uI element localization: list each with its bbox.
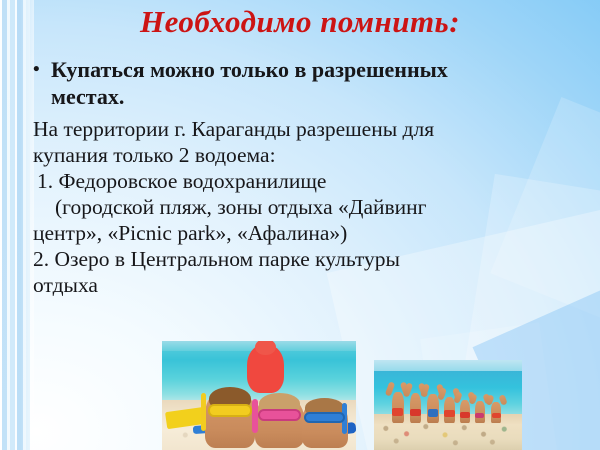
- photo-children-snorkeling: [162, 341, 356, 450]
- photo2-child-7-swimsuit: [492, 413, 501, 418]
- photo1-child-middle-snorkel: [252, 399, 257, 434]
- bullet-item: • Купаться можно только в разрешенных ме…: [33, 56, 573, 110]
- photo2-child-5-swimsuit: [460, 412, 469, 418]
- photo1-inflatable-float: [247, 345, 284, 393]
- list-item-1-line-3: центр», «Picnic park», «Афалина»): [33, 220, 573, 246]
- intro-line-1: На территории г. Караганды разрешены для: [33, 116, 573, 142]
- bullet-line-1: Купаться можно только в разрешенных: [51, 57, 448, 82]
- photo1-child-right-mask: [304, 412, 345, 423]
- photo1-child-left-mask: [208, 404, 252, 417]
- photo2-child-1: [392, 392, 404, 423]
- list-item-1-line-1: 1. Федоровское водохранилище: [37, 168, 573, 194]
- photo2-child-3: [427, 394, 439, 423]
- photo2-child-6: [475, 401, 485, 423]
- photo2-child-7: [491, 402, 501, 423]
- bullet-item-text: Купаться можно только в разрешенных мест…: [51, 56, 573, 110]
- photo-children-raising-hands: [374, 360, 522, 450]
- photo2-child-4-swimsuit: [444, 410, 454, 417]
- photo2-child-2: [410, 393, 422, 423]
- intro-paragraph: На территории г. Караганды разрешены для…: [33, 116, 573, 168]
- photo2-child-3-swimsuit: [428, 409, 438, 416]
- slide-title: Необходимо помнить:: [30, 4, 570, 40]
- photo1-child-middle-mask: [258, 409, 301, 421]
- photo2-child-5: [460, 400, 470, 423]
- list-item-1: 1. Федоровское водохранилище (городской …: [33, 168, 573, 246]
- photo1-child-right: [302, 400, 349, 448]
- bullet-line-2: местах.: [51, 84, 124, 109]
- photo2-child-2-swimsuit: [410, 409, 420, 417]
- list-item-2-line-1: 2. Озеро в Центральном парке культуры: [33, 246, 573, 272]
- photo1-child-middle: [255, 396, 304, 448]
- bullet-dot-icon: •: [33, 56, 51, 83]
- list-item-2-line-2: отдыха: [33, 272, 573, 298]
- photo1-child-left: [205, 389, 255, 448]
- slide-body: • Купаться можно только в разрешенных ме…: [33, 56, 573, 298]
- presentation-slide: Необходимо помнить: • Купаться можно тол…: [0, 0, 600, 450]
- photo2-child-1-swimsuit: [392, 408, 402, 416]
- left-stripe-fade: [0, 0, 34, 450]
- intro-line-2: купания только 2 водоема:: [33, 142, 573, 168]
- photo2-child-6-swimsuit: [475, 413, 484, 419]
- list-item-2: 2. Озеро в Центральном парке культуры от…: [33, 246, 573, 298]
- photo1-child-left-snorkel: [201, 393, 207, 432]
- list-item-1-line-2: (городской пляж, зоны отдыха «Дайвинг: [55, 194, 573, 220]
